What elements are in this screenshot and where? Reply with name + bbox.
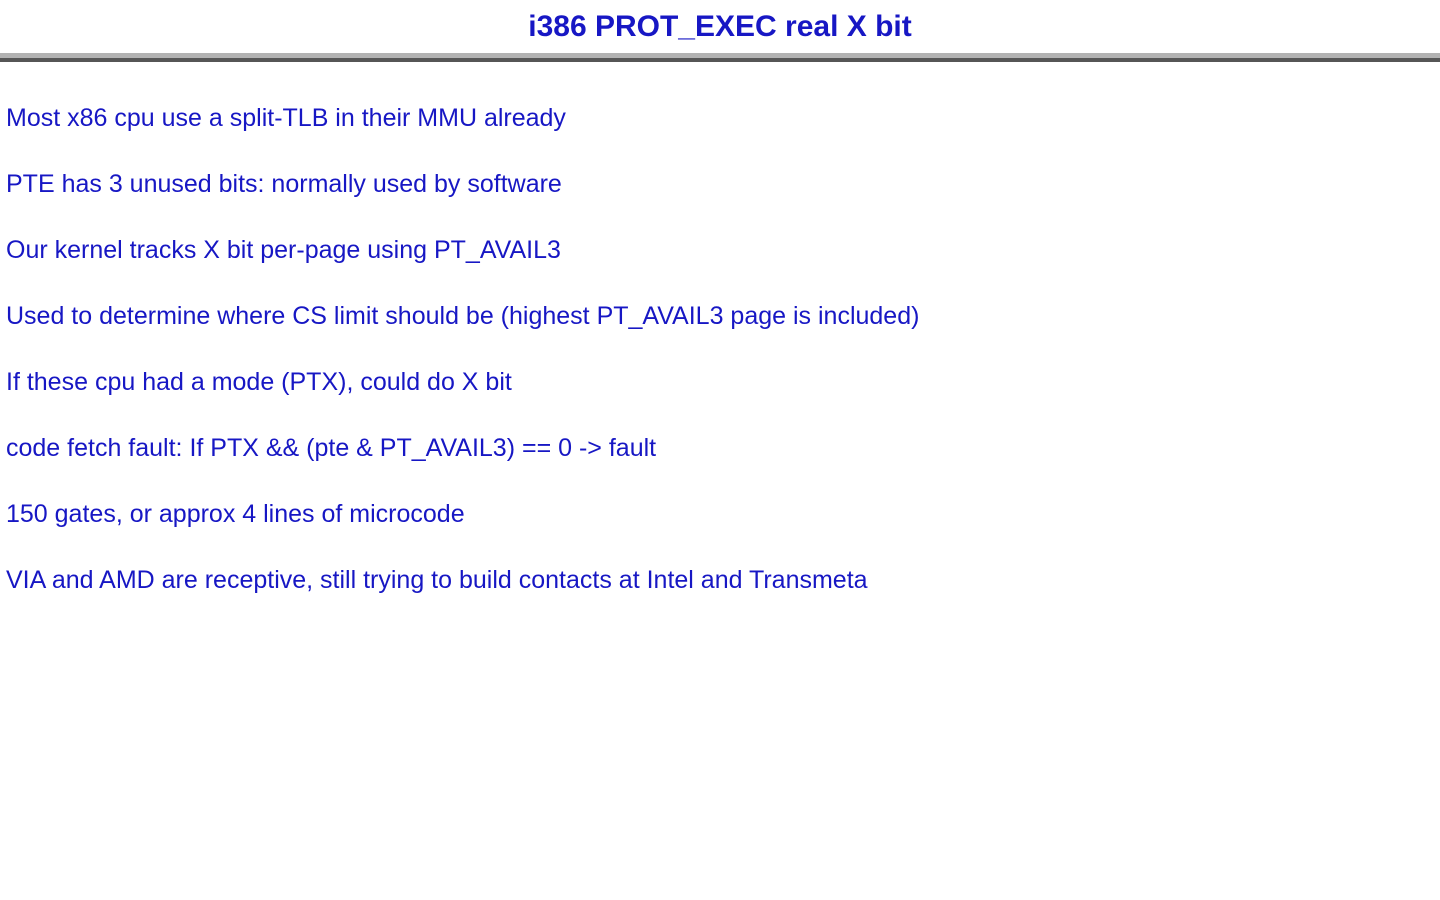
slide-header: i386 PROT_EXEC real X bit [0,0,1440,53]
header-divider [0,53,1440,62]
list-item: Used to determine where CS limit should … [0,301,1440,331]
slide-body-list: Most x86 cpu use a split-TLB in their MM… [0,103,1440,595]
page-title: i386 PROT_EXEC real X bit [528,10,911,44]
list-item: Most x86 cpu use a split-TLB in their MM… [0,103,1440,133]
slide-root: i386 PROT_EXEC real X bit Most x86 cpu u… [0,0,1440,900]
list-item: If these cpu had a mode (PTX), could do … [0,367,1440,397]
list-item: VIA and AMD are receptive, still trying … [0,565,1440,595]
divider-shadow-band [0,58,1440,62]
list-item: Our kernel tracks X bit per-page using P… [0,235,1440,265]
list-item: 150 gates, or approx 4 lines of microcod… [0,499,1440,529]
list-item: PTE has 3 unused bits: normally used by … [0,169,1440,199]
list-item: code fetch fault: If PTX && (pte & PT_AV… [0,433,1440,463]
